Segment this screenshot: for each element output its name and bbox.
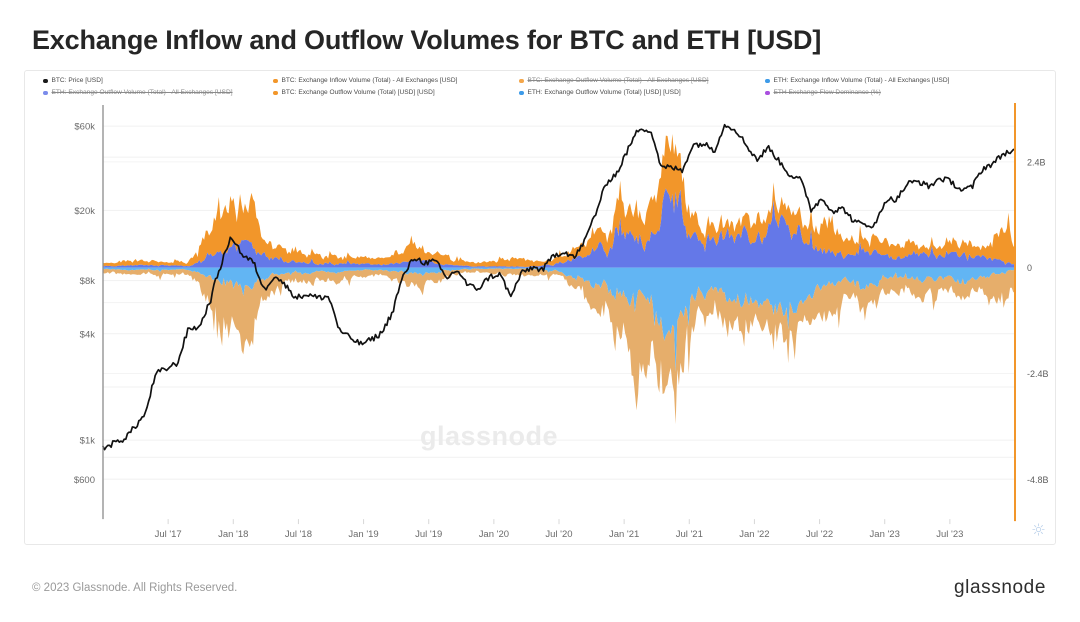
- chart-card: BTC: Price [USD]BTC: Exchange Inflow Vol…: [24, 70, 1056, 545]
- series-area-btc-outflow: [103, 268, 1015, 424]
- y-axis-tick-left: $60k: [74, 122, 95, 133]
- copyright-text: © 2023 Glassnode. All Rights Reserved.: [32, 582, 237, 594]
- legend-item-label: ETH Exchange Flow Dominance (%): [774, 87, 881, 99]
- legend-item-label: BTC: Exchange Outflow Volume (Total) - A…: [528, 75, 709, 87]
- legend-color-dot: [273, 91, 278, 96]
- legend-item[interactable]: ETH: Exchange Inflow Volume (Total) - Al…: [765, 75, 1051, 87]
- chart-page: Exchange Inflow and Outflow Volumes for …: [0, 0, 1080, 622]
- legend-item[interactable]: ETH Exchange Flow Dominance (%): [765, 87, 1051, 99]
- x-axis-tick-label: Jan '23: [870, 529, 900, 540]
- x-axis-tick-label: Jan '18: [218, 529, 248, 540]
- x-axis-tick-label: Jan '22: [739, 529, 769, 540]
- legend-item[interactable]: BTC: Exchange Outflow Volume (Total) - A…: [519, 75, 765, 87]
- x-axis-tick-label: Jul '23: [936, 529, 963, 540]
- legend-color-dot: [43, 91, 48, 96]
- chart-legend: BTC: Price [USD]BTC: Exchange Inflow Vol…: [25, 75, 1055, 99]
- chart-svg: $600$1k$4k$8k$20k$60k2.4B0-2.4B-4.8BJul …: [25, 101, 1055, 544]
- page-title: Exchange Inflow and Outflow Volumes for …: [32, 25, 1056, 56]
- y-axis-tick-left: $600: [74, 475, 95, 486]
- y-axis-tick-right: 2.4B: [1027, 157, 1046, 167]
- watermark: glassnode: [420, 421, 558, 452]
- legend-item-label: ETH: Exchange Outflow Volume (Total) [US…: [528, 87, 681, 99]
- x-axis-tick-label: Jul '20: [545, 529, 572, 540]
- legend-item[interactable]: BTC: Exchange Inflow Volume (Total) - Al…: [273, 75, 519, 87]
- legend-color-dot: [519, 79, 524, 84]
- legend-item[interactable]: BTC: Price [USD]: [43, 75, 273, 87]
- legend-item-label: BTC: Exchange Inflow Volume (Total) - Al…: [282, 75, 458, 87]
- x-axis-tick-label: Jul '21: [676, 529, 703, 540]
- plot-area[interactable]: $600$1k$4k$8k$20k$60k2.4B0-2.4B-4.8BJul …: [25, 101, 1055, 544]
- legend-item-label: ETH: Exchange Outflow Volume (Total) - A…: [52, 87, 233, 99]
- settings-gear-icon[interactable]: [1032, 523, 1045, 536]
- legend-item-label: ETH: Exchange Inflow Volume (Total) - Al…: [774, 75, 950, 87]
- legend-item[interactable]: BTC: Exchange Outflow Volume (Total) [US…: [273, 87, 519, 99]
- x-axis-tick-label: Jul '22: [806, 529, 833, 540]
- y-axis-tick-right: -2.4B: [1027, 369, 1049, 379]
- y-axis-tick-left: $8k: [80, 276, 96, 287]
- y-axis-tick-right: 0: [1027, 263, 1032, 273]
- y-axis-tick-right: -4.8B: [1027, 475, 1049, 485]
- legend-item[interactable]: ETH: Exchange Outflow Volume (Total) [US…: [519, 87, 765, 99]
- x-axis-tick-label: Jan '19: [348, 529, 378, 540]
- legend-color-dot: [765, 79, 770, 84]
- x-axis-tick-label: Jul '18: [285, 529, 312, 540]
- x-axis-tick-label: Jul '19: [415, 529, 442, 540]
- legend-item-label: BTC: Price [USD]: [52, 75, 103, 87]
- series-layer: [103, 125, 1015, 450]
- y-axis-tick-left: $4k: [80, 329, 96, 340]
- page-footer: © 2023 Glassnode. All Rights Reserved. g…: [24, 560, 1056, 622]
- y-axis-tick-left: $1k: [80, 436, 96, 447]
- legend-color-dot: [273, 79, 278, 84]
- x-axis-tick-label: Jul '17: [155, 529, 182, 540]
- legend-color-dot: [43, 79, 48, 84]
- y-axis-tick-left: $20k: [74, 206, 95, 217]
- legend-color-dot: [765, 91, 770, 96]
- legend-color-dot: [519, 91, 524, 96]
- legend-item[interactable]: ETH: Exchange Outflow Volume (Total) - A…: [43, 87, 273, 99]
- x-axis-tick-label: Jan '20: [479, 529, 509, 540]
- legend-item-label: BTC: Exchange Outflow Volume (Total) [US…: [282, 87, 435, 99]
- brand-logo: glassnode: [954, 577, 1046, 599]
- x-axis-tick-label: Jan '21: [609, 529, 639, 540]
